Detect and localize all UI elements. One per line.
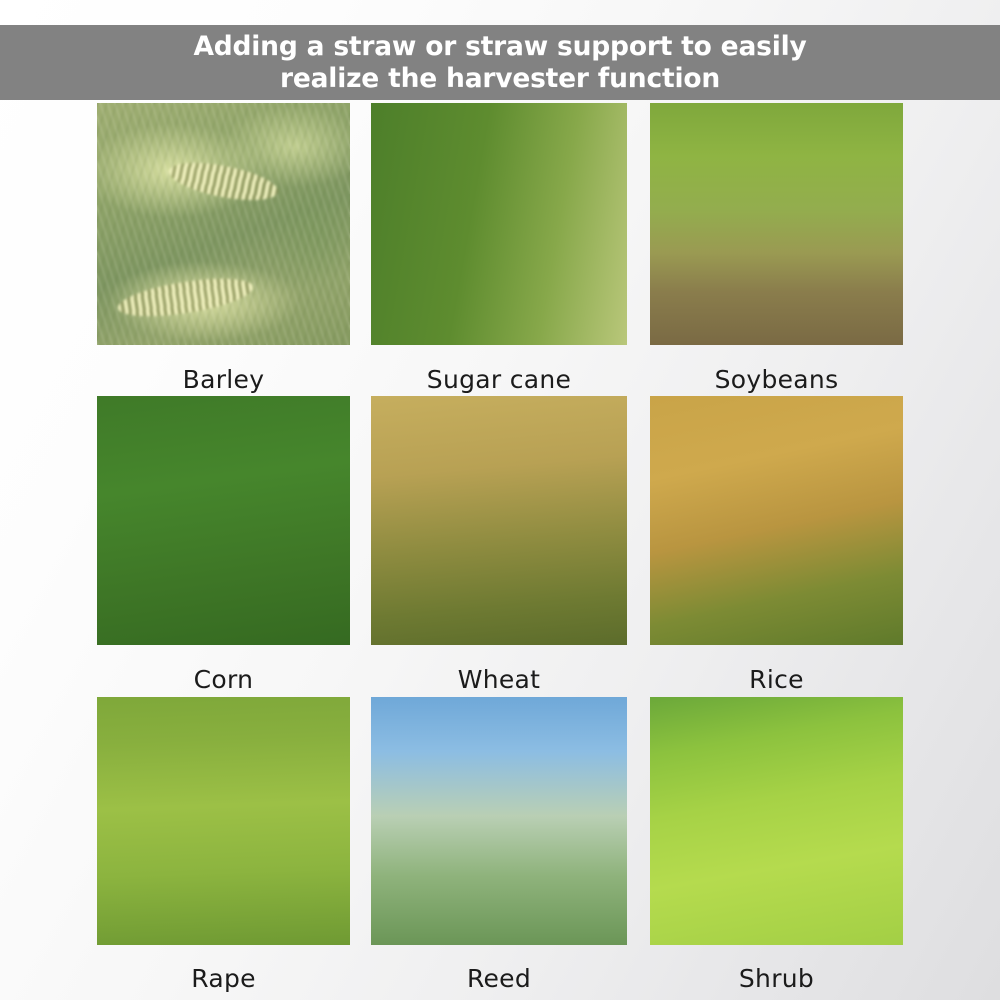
headline-line-2: realize the harvester function bbox=[280, 63, 720, 95]
crop-cell-rape[interactable]: Rape bbox=[97, 697, 350, 991]
crop-label-soybeans: Soybeans bbox=[650, 345, 903, 392]
corn-ground-sprouts bbox=[97, 396, 350, 645]
crop-cell-reed[interactable]: Reed bbox=[371, 697, 627, 991]
crop-grid-row: Corn Wheat Rice bbox=[97, 396, 903, 696]
crop-image-reed bbox=[371, 697, 627, 945]
shrub-foliage-texture bbox=[650, 697, 903, 945]
crop-image-barley bbox=[97, 103, 350, 345]
crop-grid-row: Rape Reed bbox=[97, 697, 903, 983]
crop-image-shrub bbox=[650, 697, 903, 945]
crop-cell-barley[interactable]: Barley bbox=[97, 103, 350, 392]
wheat-awns bbox=[371, 396, 627, 645]
crop-grid-row: Barley Sugar cane bbox=[97, 103, 903, 395]
crop-image-wheat bbox=[371, 396, 627, 645]
crop-label-reed: Reed bbox=[371, 945, 627, 991]
crop-cell-sugar-cane[interactable]: Sugar cane bbox=[371, 103, 627, 392]
crop-image-rice bbox=[650, 396, 903, 645]
crop-cell-soybeans[interactable]: Soybeans bbox=[650, 103, 903, 392]
crop-cell-shrub[interactable]: Shrub bbox=[650, 697, 903, 991]
crop-cell-wheat[interactable]: Wheat bbox=[371, 396, 627, 692]
crop-image-rape bbox=[97, 697, 350, 945]
crop-label-corn: Corn bbox=[97, 645, 350, 692]
crop-label-wheat: Wheat bbox=[371, 645, 627, 692]
crop-cell-corn[interactable]: Corn bbox=[97, 396, 350, 692]
crop-image-sugar-cane bbox=[371, 103, 627, 345]
rape-yellow-flowers bbox=[97, 697, 350, 945]
crop-cell-rice[interactable]: Rice bbox=[650, 396, 903, 692]
crop-grid: Barley Sugar cane bbox=[97, 103, 903, 983]
crop-image-soybeans bbox=[650, 103, 903, 345]
headline-line-1: Adding a straw or straw support to easil… bbox=[193, 31, 806, 63]
crop-label-rape: Rape bbox=[97, 945, 350, 991]
rice-grain-texture bbox=[650, 396, 903, 645]
crop-image-corn bbox=[97, 396, 350, 645]
crop-label-barley: Barley bbox=[97, 345, 350, 392]
cane-stalk-nodes bbox=[371, 103, 627, 345]
crop-label-sugar-cane: Sugar cane bbox=[371, 345, 627, 392]
reed-stems bbox=[371, 697, 627, 945]
product-feature-page: Adding a straw or straw support to easil… bbox=[0, 0, 1000, 1000]
soy-leaf-canopy bbox=[650, 103, 903, 345]
barley-soft-blur bbox=[97, 103, 350, 345]
crop-label-rice: Rice bbox=[650, 645, 903, 692]
crop-label-shrub: Shrub bbox=[650, 945, 903, 991]
headline-banner: Adding a straw or straw support to easil… bbox=[0, 25, 1000, 100]
